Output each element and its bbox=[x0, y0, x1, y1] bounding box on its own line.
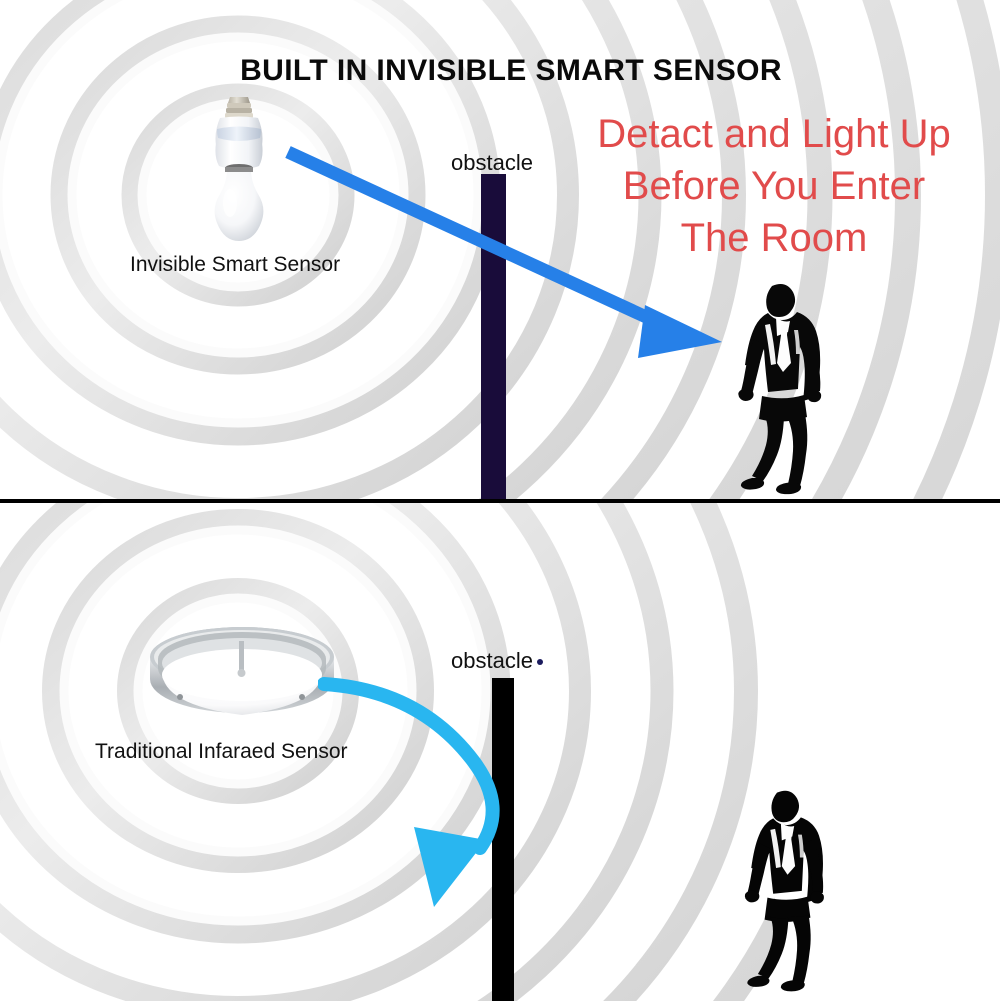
curved-arrow-svg bbox=[318, 672, 578, 917]
walking-man-icon bbox=[728, 280, 838, 495]
obstacle-label-bottom: obstacle bbox=[451, 648, 543, 674]
walking-man-icon bbox=[735, 782, 840, 997]
traditional-sensor-caption: Traditional Infaraed Sensor bbox=[95, 740, 348, 764]
obstacle-label-bottom-text: obstacle bbox=[451, 648, 533, 673]
page-title: BUILT IN INVISIBLE SMART SENSOR bbox=[0, 54, 1000, 88]
headline-line-1: Detact and Light Up bbox=[548, 108, 1000, 160]
person-silhouette-bottom bbox=[735, 782, 840, 997]
headline-line-2: Before You Enter bbox=[548, 160, 1000, 212]
bottom-panel: Traditional Infaraed Sensor obstacle bbox=[0, 503, 1000, 1001]
headline-line-3: The Room bbox=[548, 212, 1000, 264]
obstacle-dot-marker bbox=[537, 659, 543, 665]
traditional-ceiling-light bbox=[142, 625, 342, 735]
curved-cyan-arrow bbox=[318, 672, 578, 917]
headline-text: Detact and Light Up Before You Enter The… bbox=[548, 108, 1000, 264]
ceiling-light-illustration bbox=[142, 625, 342, 735]
infographic-canvas: Invisible Smart Sensor obstacle Detact a… bbox=[0, 0, 1000, 1001]
person-silhouette-top bbox=[728, 280, 838, 495]
